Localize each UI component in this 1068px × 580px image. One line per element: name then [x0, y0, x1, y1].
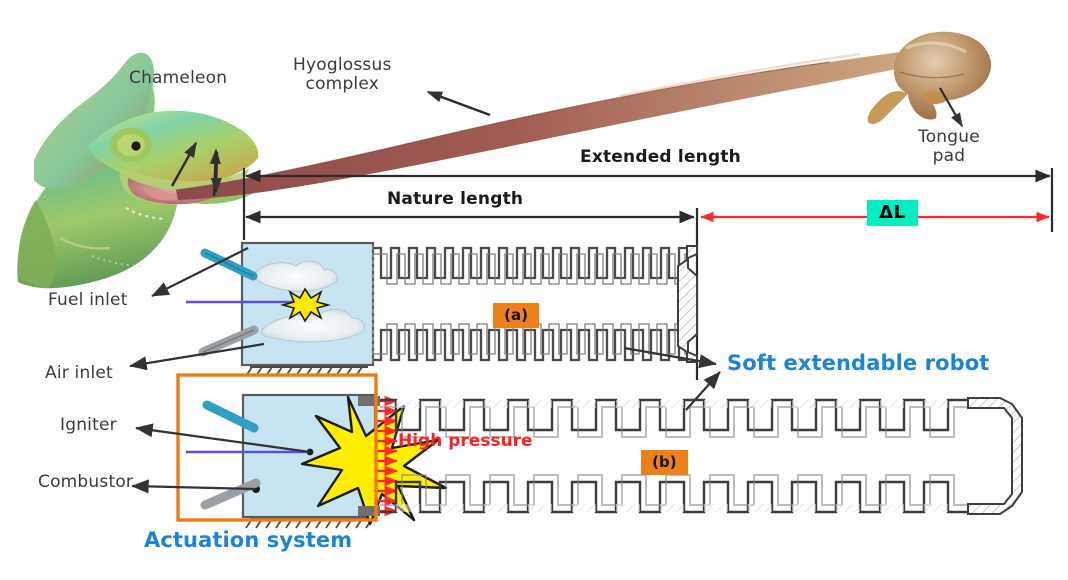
label-extended-length: Extended length — [580, 148, 741, 167]
label-tongue-pad: Tongue pad — [918, 128, 980, 166]
panel-b-robot — [186, 395, 1022, 528]
label-combustor: Combustor — [38, 473, 133, 492]
label-hyoglossus-complex: Hyoglossus complex — [293, 56, 392, 94]
label-soft-extendable-robot: Soft extendable robot — [727, 352, 989, 376]
label-delta-l: ΔL — [857, 185, 918, 223]
end-cap-b — [968, 398, 1022, 514]
end-cap-a — [678, 246, 697, 362]
label-chameleon: Chameleon — [129, 69, 227, 88]
label-panel-a: (a) — [483, 288, 539, 324]
figure-canvas: Chameleon Hyoglossus complex Tongue pad … — [0, 0, 1068, 580]
bellows-a-bottom — [373, 330, 687, 360]
tongue-pad-photo — [868, 32, 991, 124]
label-actuation-system: Actuation system — [144, 529, 352, 553]
label-igniter: Igniter — [60, 416, 117, 435]
chameleon-photo — [17, 53, 258, 289]
panel-a-badge: (a) — [493, 303, 539, 328]
panel-b-badge: (b) — [641, 450, 687, 475]
chameleon-tongue — [176, 50, 922, 200]
label-nature-length: Nature length — [387, 190, 523, 209]
dimension-extended-length — [244, 168, 1052, 240]
label-air-inlet: Air inlet — [45, 364, 113, 383]
label-high-pressure: High pressure — [398, 432, 533, 451]
label-panel-b: (b) — [631, 435, 688, 471]
panel-a-robot — [186, 243, 697, 376]
delta-l-badge: ΔL — [867, 200, 917, 226]
bellows-a-top — [373, 248, 687, 278]
label-fuel-inlet: Fuel inlet — [48, 291, 128, 310]
